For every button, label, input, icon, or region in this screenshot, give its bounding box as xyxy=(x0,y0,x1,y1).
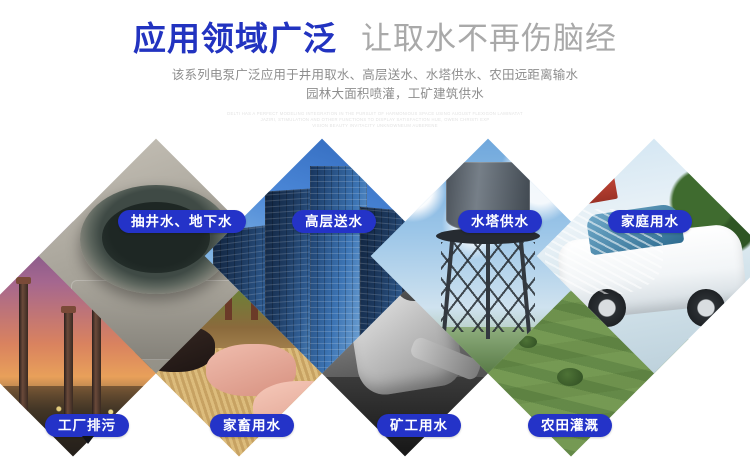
field-bush-1 xyxy=(486,403,508,419)
label-water-tower-supply[interactable]: 水塔供水 xyxy=(458,210,542,233)
page-title: 应用领域广泛 xyxy=(133,22,337,55)
application-diamond-mosaic: 抽井水、地下水 高层送水 水塔供水 家庭用水 工厂排污 家畜用水 矿工用水 农田… xyxy=(0,190,750,468)
decorative-microcopy: DELTI HAS A PERFECT MODELING INTEGRATION… xyxy=(0,111,750,129)
tagline-line-2: 园林大面积喷灌，工矿建筑供水 xyxy=(0,85,750,104)
label-farmland-irrigation[interactable]: 农田灌溉 xyxy=(528,414,612,437)
label-household-water[interactable]: 家庭用水 xyxy=(608,210,692,233)
tagline-line-1: 该系列电泵广泛应用于井用取水、高层送水、水塔供水、农田远距离输水 xyxy=(0,66,750,85)
car-wheel-rear xyxy=(687,289,725,327)
tagline-block: 该系列电泵广泛应用于井用取水、高层送水、水塔供水、农田远距离输水 园林大面积喷灌… xyxy=(0,66,750,104)
tower-leg-2 xyxy=(486,235,490,339)
field-bush-2 xyxy=(557,368,583,386)
header-block: 应用领域广泛让取水不再伤脑经 该系列电泵广泛应用于井用取水、高层送水、水塔供水、… xyxy=(0,0,750,129)
page-subtitle: 让取水不再伤脑经 xyxy=(361,23,617,54)
label-pump-well-groundwater[interactable]: 抽井水、地下水 xyxy=(118,210,246,233)
label-miner-water[interactable]: 矿工用水 xyxy=(377,414,461,437)
headline-row: 应用领域广泛让取水不再伤脑经 xyxy=(0,22,750,55)
field-bush-3 xyxy=(618,414,638,429)
label-livestock-water[interactable]: 家畜用水 xyxy=(210,414,294,437)
microcopy-line-3: VISION BEAUTY INVITACITY UNKNOWNEUM AUBE… xyxy=(0,123,750,129)
label-high-rise-supply[interactable]: 高层送水 xyxy=(292,210,376,233)
red-roof xyxy=(553,171,618,210)
label-factory-discharge[interactable]: 工厂排污 xyxy=(45,414,129,437)
